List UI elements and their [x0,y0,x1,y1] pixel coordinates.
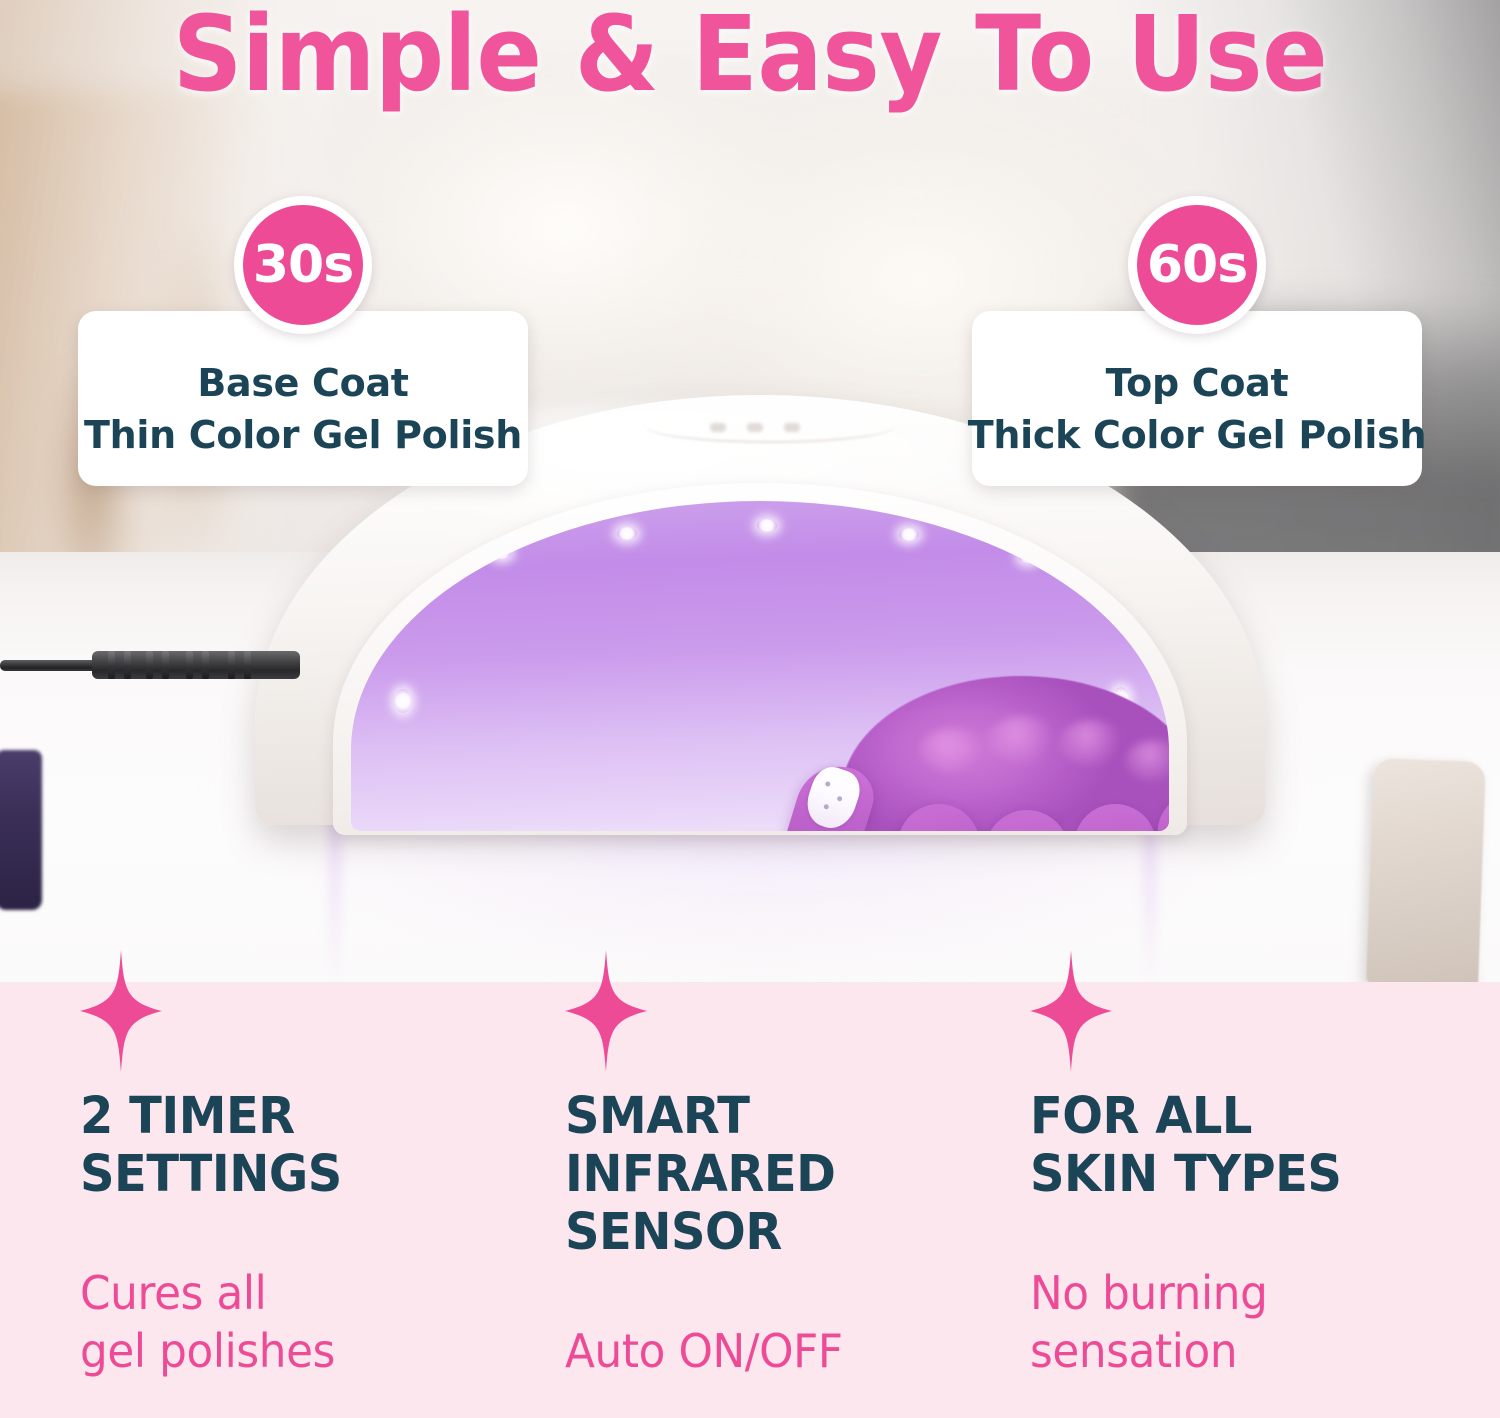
led-light [395,689,411,713]
callout-card: Top Coat Thick Color Gel Polish [972,311,1422,486]
page-title: Simple & Easy To Use [53,2,1448,106]
led-light [1019,551,1037,563]
feature-title: SMART INFRARED SENSOR [565,1088,835,1262]
lamp-seam [645,409,895,443]
lamp-button[interactable] [710,423,726,432]
led-light [493,547,511,559]
connector-rib [186,651,193,679]
callout-line-1: Top Coat [1106,358,1289,408]
feature-title: 2 TIMER SETTINGS [80,1088,342,1204]
connector-rib [162,651,169,679]
connector-rib [244,651,251,679]
timer-badge-60s: 60s [1128,196,1266,334]
connector-rib [202,651,209,679]
nail-file [1366,758,1486,982]
gel-polish-bottle [0,750,42,910]
led-light [757,519,777,532]
led-light [899,528,919,541]
feature-title: FOR ALL SKIN TYPES [1030,1088,1341,1204]
feature-subtitle: Auto ON/OFF [565,1322,843,1380]
sparkle-icon [565,950,647,1072]
feature-subtitle: No burning sensation [1030,1264,1267,1380]
connector-rib [108,651,115,679]
callout-line-1: Base Coat [197,358,408,408]
callout-card: Base Coat Thin Color Gel Polish [78,311,528,486]
feature-subtitle: Cures all gel polishes [80,1264,335,1380]
lamp-button[interactable] [747,423,763,432]
hand [781,676,1169,831]
sparkle-icon [80,950,162,1072]
connector-rib [228,651,235,679]
connector-rib [146,651,153,679]
product-infographic: Simple & Easy To Use Base Coat Thin Colo… [0,0,1500,1418]
product-photo [0,0,1500,982]
connector-rib [124,651,131,679]
timer-badge-30s: 30s [234,196,372,334]
callout-line-2: Thin Color Gel Polish [84,408,522,462]
led-light [617,527,637,540]
callout-line-2: Thick Color Gel Polish [968,408,1426,462]
lamp-button[interactable] [784,423,800,432]
sparkle-icon [1030,950,1112,1072]
feature-strip: 2 TIMER SETTINGS Cures all gel polishes … [0,982,1500,1418]
